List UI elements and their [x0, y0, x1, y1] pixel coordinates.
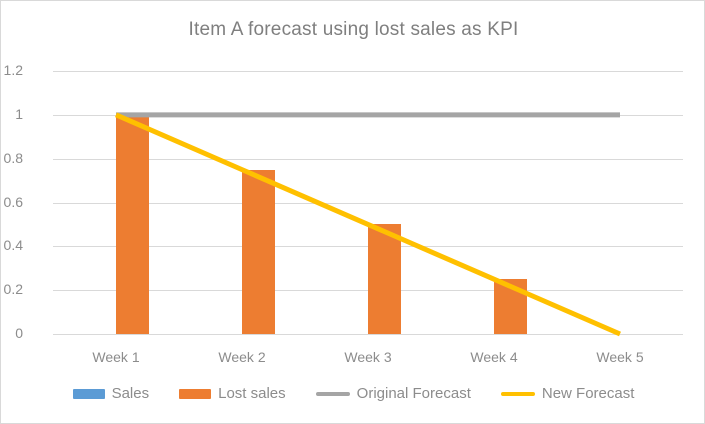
y-axis-tick-label: 0: [0, 325, 23, 341]
y-axis-tick-label: 1: [0, 106, 23, 122]
legend-label: Sales: [112, 385, 150, 402]
legend-swatch-line-icon: [501, 392, 535, 396]
chart-title: Item A forecast using lost sales as KPI: [1, 19, 705, 41]
legend-item-sales[interactable]: Sales: [73, 385, 150, 402]
line-new-forecast: [116, 115, 620, 334]
legend-label: Original Forecast: [357, 385, 471, 402]
legend-label: Lost sales: [218, 385, 286, 402]
x-axis-tick-label: Week 2: [218, 349, 265, 365]
legend-label: New Forecast: [542, 385, 635, 402]
line-series-group: [53, 71, 683, 334]
legend-swatch-line-icon: [316, 392, 350, 396]
legend-swatch-bar-icon: [73, 389, 105, 399]
y-axis-tick-label: 0.6: [0, 194, 23, 210]
y-axis-tick-label: 1.2: [0, 62, 23, 78]
x-axis-tick-label: Week 5: [596, 349, 643, 365]
y-axis-tick-label: 0.2: [0, 281, 23, 297]
y-axis-tick-label: 0.4: [0, 237, 23, 253]
y-axis-tick-label: 0.8: [0, 150, 23, 166]
plot-area: 00.20.40.60.811.2 Week 1Week 2Week 3Week…: [53, 71, 683, 334]
chart-container: Item A forecast using lost sales as KPI …: [0, 0, 705, 424]
legend-item-original-forecast[interactable]: Original Forecast: [316, 385, 471, 402]
legend-swatch-bar-icon: [179, 389, 211, 399]
chart-legend: SalesLost salesOriginal ForecastNew Fore…: [1, 385, 705, 402]
x-axis-tick-label: Week 1: [92, 349, 139, 365]
x-axis-line: [53, 334, 683, 335]
legend-item-lost-sales[interactable]: Lost sales: [179, 385, 286, 402]
legend-item-new-forecast[interactable]: New Forecast: [501, 385, 635, 402]
x-axis-tick-label: Week 3: [344, 349, 391, 365]
x-axis-tick-label: Week 4: [470, 349, 517, 365]
